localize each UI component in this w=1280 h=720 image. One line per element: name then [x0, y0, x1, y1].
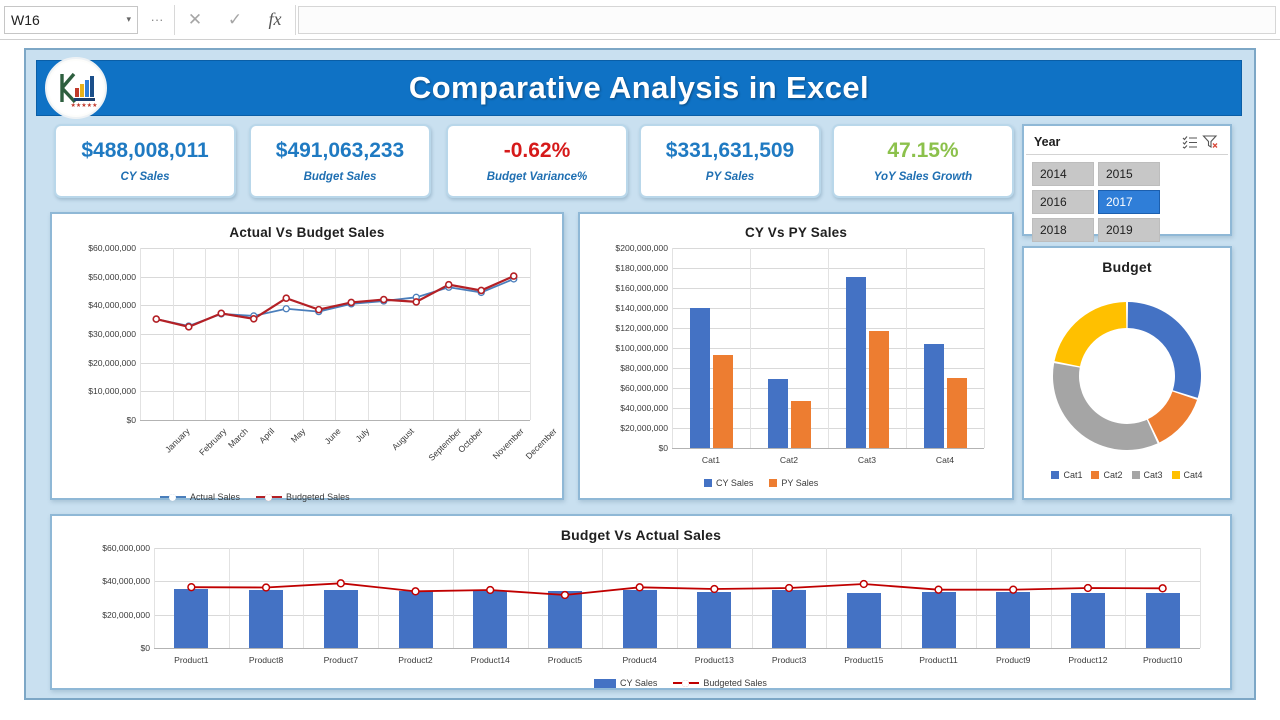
formula-input[interactable] — [298, 6, 1276, 34]
y-axis-tick: $60,000,000 — [68, 543, 150, 553]
insert-function-icon[interactable]: fx — [255, 5, 295, 35]
x-axis-tick: April — [257, 426, 276, 445]
slicer-item-2015[interactable]: 2015 — [1098, 162, 1160, 186]
y-axis-tick: $40,000,000 — [56, 300, 136, 310]
legend-label: Cat1 — [1063, 470, 1082, 480]
chart-legend: CY SalesPY Sales — [704, 478, 818, 488]
y-axis-tick: $60,000,000 — [582, 383, 668, 393]
x-axis-tick: Cat4 — [905, 455, 985, 465]
year-slicer[interactable]: Year 2014 20 — [1022, 124, 1232, 236]
slicer-item-2018[interactable]: 2018 — [1032, 218, 1094, 242]
legend-label: Budgeted Sales — [286, 492, 350, 502]
chevron-down-icon[interactable]: ▾ — [126, 14, 131, 25]
y-axis-tick: $40,000,000 — [582, 403, 668, 413]
slicer-title: Year — [1034, 135, 1180, 149]
donut-slice-cat3[interactable] — [1053, 363, 1158, 450]
bar-cy-sales[interactable] — [924, 344, 944, 448]
gridline-vertical — [906, 248, 907, 448]
legend-swatch — [1051, 471, 1059, 479]
legend-item: CY Sales — [704, 478, 753, 488]
kpi-value: $491,063,233 — [276, 139, 404, 162]
legend-item: Cat2 — [1091, 470, 1122, 480]
legend-swatch — [1132, 471, 1140, 479]
legend-item: Budgeted Sales — [673, 678, 767, 688]
legend-marker — [265, 494, 272, 501]
kpi-label: CY Sales — [120, 171, 169, 183]
kpi-label: YoY Sales Growth — [874, 171, 972, 183]
y-axis-tick: $200,000,000 — [582, 243, 668, 253]
kpi-value: $331,631,509 — [666, 139, 794, 162]
gridline-vertical — [750, 248, 751, 448]
chart-legend: Cat1Cat2Cat3Cat4 — [1024, 470, 1230, 480]
y-axis-tick: $0 — [56, 415, 136, 425]
donut-slice-cat1[interactable] — [1128, 302, 1201, 398]
x-axis-tick: Cat3 — [827, 455, 907, 465]
kpi-label: PY Sales — [706, 171, 754, 183]
slicer-item-2014[interactable]: 2014 — [1032, 162, 1094, 186]
kpi-card-cy-sales[interactable]: $488,008,011 CY Sales — [54, 124, 236, 198]
x-axis-tick: December — [523, 426, 558, 461]
x-axis-tick: February — [197, 426, 228, 457]
bar-cy-sales[interactable] — [690, 308, 710, 448]
y-axis-tick: $30,000,000 — [56, 329, 136, 339]
svg-text:★★★★★: ★★★★★ — [71, 102, 98, 109]
bar-py-sales[interactable] — [869, 331, 889, 448]
legend-swatch — [769, 479, 777, 487]
formula-action-group: ✕ ✓ fx — [174, 5, 296, 35]
bar-py-sales[interactable] — [713, 355, 733, 448]
y-axis-tick: $80,000,000 — [582, 363, 668, 373]
bar-py-sales[interactable] — [947, 378, 967, 448]
y-axis-tick: $40,000,000 — [68, 576, 150, 586]
kpi-card-budget-variance[interactable]: -0.62% Budget Variance% — [446, 124, 628, 198]
gridline-vertical — [984, 248, 985, 448]
legend-item: Cat3 — [1132, 470, 1163, 480]
donut-segments — [1041, 290, 1213, 462]
formula-bar: W16 ▾ ··· ✕ ✓ fx — [0, 0, 1280, 40]
bar-cy-sales[interactable] — [768, 379, 788, 448]
y-axis-tick: $100,000,000 — [582, 343, 668, 353]
y-axis-tick: $0 — [582, 443, 668, 453]
chart-panel-cy-vs-py: CY Vs PY Sales $0$20,000,000$40,000,000$… — [578, 212, 1014, 500]
donut-slice-cat4[interactable] — [1055, 302, 1127, 366]
bar-cy-sales[interactable] — [846, 277, 866, 448]
kpi-card-py-sales[interactable]: $331,631,509 PY Sales — [639, 124, 821, 198]
kpi-label: Budget Variance% — [487, 171, 588, 183]
legend-item: PY Sales — [769, 478, 818, 488]
bar-py-sales[interactable] — [791, 401, 811, 448]
y-axis-tick: $20,000,000 — [582, 423, 668, 433]
x-axis-tick: June — [322, 426, 342, 446]
dashboard-banner: ★★★★★ Comparative Analysis in Excel — [36, 60, 1242, 116]
slicer-item-2017[interactable]: 2017 — [1098, 190, 1160, 214]
chart-legend: CY SalesBudgeted Sales — [594, 678, 767, 688]
kpi-card-budget-sales[interactable]: $491,063,233 Budget Sales — [249, 124, 431, 198]
slicer-header: Year — [1026, 129, 1228, 155]
y-axis-tick: $50,000,000 — [56, 272, 136, 282]
legend-item: Cat4 — [1172, 470, 1203, 480]
x-axis-line — [672, 448, 984, 449]
legend-label: Budgeted Sales — [703, 678, 767, 688]
clear-filter-icon[interactable] — [1200, 133, 1220, 151]
company-logo: ★★★★★ — [45, 57, 107, 119]
donut-slice-cat2[interactable] — [1148, 391, 1197, 442]
x-axis-tick: May — [289, 426, 308, 445]
actual-vs-budget-chart[interactable]: $0$10,000,000$20,000,000$30,000,000$40,0… — [52, 214, 562, 498]
chart-legend: Actual SalesBudgeted Sales — [160, 492, 350, 502]
y-axis-tick: $20,000,000 — [56, 358, 136, 368]
excel-dashboard-window: W16 ▾ ··· ✕ ✓ fx — [0, 0, 1280, 720]
slicer-item-2016[interactable]: 2016 — [1032, 190, 1094, 214]
legend-swatch — [1091, 471, 1099, 479]
gridline-vertical — [530, 248, 531, 420]
x-axis-line — [140, 420, 530, 421]
chart-panel-actual-vs-budget: Actual Vs Budget Sales $0$10,000,000$20,… — [50, 212, 564, 500]
legend-label: PY Sales — [781, 478, 818, 488]
kpi-card-yoy-growth[interactable]: 47.15% YoY Sales Growth — [832, 124, 1014, 198]
x-axis-tick: November — [491, 426, 526, 461]
x-axis-tick: August — [390, 426, 416, 452]
more-options-icon[interactable]: ··· — [146, 6, 168, 34]
chart-panel-budget-vs-actual: Budget Vs Actual Sales $0$20,000,000$40,… — [50, 514, 1232, 690]
legend-label: Cat3 — [1144, 470, 1163, 480]
kpi-value: -0.62% — [504, 139, 571, 162]
x-axis-tick: March — [226, 426, 250, 450]
legend-item: CY Sales — [594, 678, 657, 688]
legend-item: Actual Sales — [160, 492, 240, 502]
kpi-value: $488,008,011 — [81, 139, 208, 162]
budget-vs-actual-chart[interactable]: $0$20,000,000$40,000,000$60,000,000Produ… — [52, 516, 1230, 688]
name-box-value: W16 — [11, 12, 126, 28]
dashboard-title: Comparative Analysis in Excel — [409, 70, 869, 106]
name-box[interactable]: W16 ▾ — [4, 6, 138, 34]
y-axis-tick: $60,000,000 — [56, 243, 136, 253]
legend-marker — [169, 494, 176, 501]
legend-label: CY Sales — [716, 478, 753, 488]
x-axis-tick: Cat1 — [671, 455, 751, 465]
x-axis-tick: Product10 — [1118, 655, 1208, 665]
kpi-label: Budget Sales — [304, 171, 377, 183]
y-axis-tick: $180,000,000 — [582, 263, 668, 273]
legend-swatch — [160, 496, 186, 498]
legend-swatch — [256, 496, 282, 498]
gridline-vertical — [672, 248, 673, 448]
gridline-vertical — [828, 248, 829, 448]
y-axis-tick: $0 — [68, 643, 150, 653]
cancel-icon[interactable]: ✕ — [175, 5, 215, 35]
legend-label: Cat2 — [1103, 470, 1122, 480]
gridline-vertical — [1200, 548, 1201, 648]
x-axis-tick: July — [354, 426, 372, 444]
legend-marker — [682, 680, 689, 687]
budgeted-line-series — [154, 548, 1200, 648]
legend-swatch — [704, 479, 712, 487]
legend-label: Cat4 — [1184, 470, 1203, 480]
x-axis-tick: Cat2 — [749, 455, 829, 465]
slicer-item-2019[interactable]: 2019 — [1098, 218, 1160, 242]
cy-vs-py-chart[interactable]: $0$20,000,000$40,000,000$60,000,000$80,0… — [580, 214, 1012, 498]
y-axis-tick: $140,000,000 — [582, 303, 668, 313]
x-axis-line — [154, 648, 1200, 649]
legend-swatch — [1172, 471, 1180, 479]
legend-swatch — [594, 679, 616, 688]
legend-label: Actual Sales — [190, 492, 240, 502]
line-series-area — [140, 248, 530, 420]
kpi-card-row: $488,008,011 CY Sales $491,063,233 Budge… — [36, 124, 1036, 202]
kpi-value: 47.15% — [887, 139, 958, 162]
y-axis-tick: $10,000,000 — [56, 386, 136, 396]
budget-donut-chart[interactable]: Cat1Cat2Cat3Cat4 — [1024, 248, 1230, 498]
y-axis-tick: $120,000,000 — [582, 323, 668, 333]
y-axis-tick: $160,000,000 — [582, 283, 668, 293]
dashboard-canvas: ★★★★★ Comparative Analysis in Excel $488… — [24, 48, 1256, 700]
confirm-icon[interactable]: ✓ — [215, 5, 255, 35]
legend-swatch — [673, 682, 699, 684]
legend-item: Cat1 — [1051, 470, 1082, 480]
legend-label: CY Sales — [620, 678, 657, 688]
multiselect-icon[interactable] — [1180, 133, 1200, 151]
legend-item: Budgeted Sales — [256, 492, 350, 502]
chart-panel-budget-donut: Budget Cat1Cat2Cat3Cat4 — [1022, 246, 1232, 500]
x-axis-tick: January — [163, 426, 192, 455]
y-axis-tick: $20,000,000 — [68, 610, 150, 620]
